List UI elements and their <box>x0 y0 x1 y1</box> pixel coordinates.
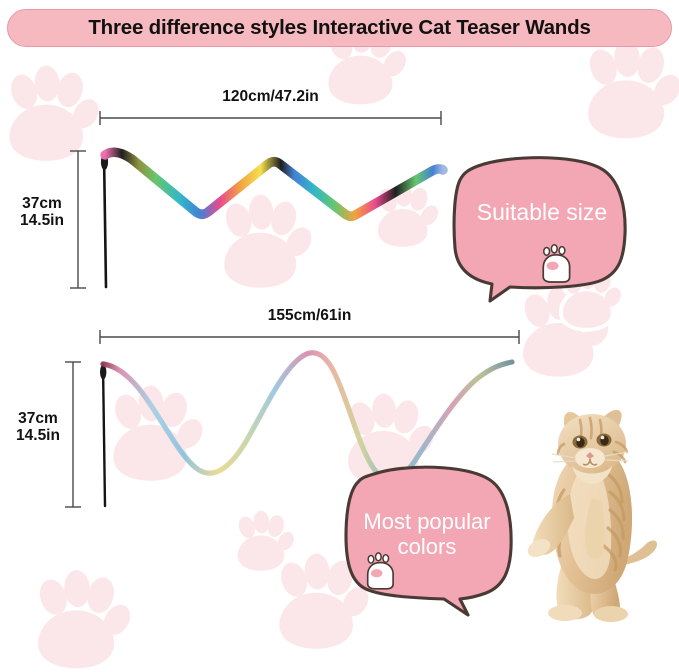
callout-suitable-size-text: Suitable size <box>462 200 622 225</box>
dimension-line-vertical-1 <box>70 151 86 288</box>
page-title: Three difference styles Interactive Cat … <box>88 16 590 40</box>
ribbon-rainbow-zigzag <box>105 152 443 216</box>
height-label-wand-1: 37cm14.5in <box>12 195 72 229</box>
dimension-line-horizontal-1 <box>100 111 441 125</box>
cat-photo <box>508 398 678 626</box>
callout-most-popular-colors-text: Most popular colors <box>352 509 502 559</box>
height-label-wand-2: 37cm14.5in <box>8 410 68 444</box>
page-title-banner: Three difference styles Interactive Cat … <box>7 9 672 47</box>
dimension-line-horizontal-2 <box>100 330 519 344</box>
infographic-canvas: Three difference styles Interactive Cat … <box>0 0 679 672</box>
wand-handle-1 <box>101 154 108 287</box>
ribbon-pastel-wave <box>103 353 512 480</box>
length-label-wand-1: 120cm/47.2in <box>100 88 441 106</box>
length-label-wand-2: 155cm/61in <box>100 307 519 325</box>
wand-handle-2 <box>100 365 106 507</box>
callout-suitable-size <box>448 152 634 309</box>
